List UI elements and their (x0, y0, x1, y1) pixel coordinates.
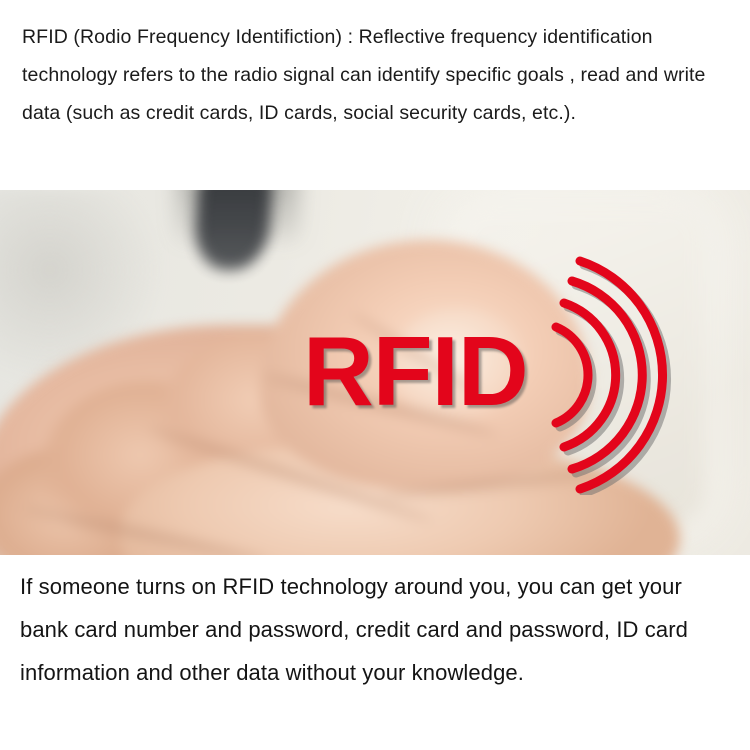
rfid-wordmark: RFID (303, 322, 528, 420)
top-text-block: RFID (Rodio Frequency Identifiction) : R… (0, 0, 750, 190)
radio-wave-arcs-icon (540, 255, 720, 495)
bottom-text-block: If someone turns on RFID technology arou… (0, 555, 750, 750)
infographic-page: RFID (Rodio Frequency Identifiction) : R… (0, 0, 750, 750)
rfid-definition-paragraph: RFID (Rodio Frequency Identifiction) : R… (22, 18, 726, 132)
rfid-warning-paragraph: If someone turns on RFID technology arou… (20, 565, 730, 694)
